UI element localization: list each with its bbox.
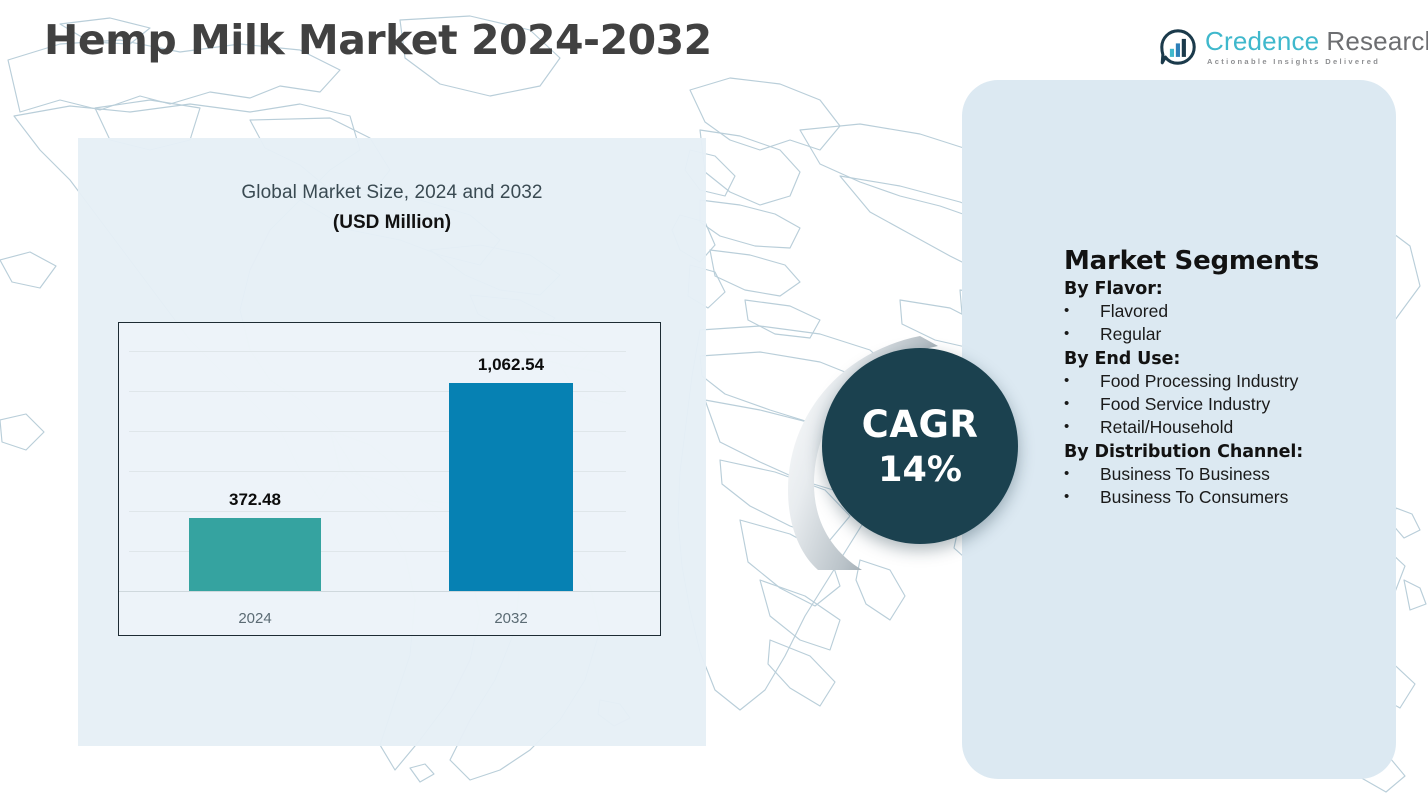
bullet-icon: •	[1064, 417, 1100, 438]
chart-heading: Global Market Size, 2024 and 2032 (USD M…	[118, 182, 666, 234]
brand-word-research: Research	[1326, 28, 1428, 54]
segment-item-label: Food Processing Industry	[1100, 371, 1394, 392]
chart-plot-area: 372.4820241,062.542032	[119, 323, 660, 635]
chart-bar-group: 372.482024	[189, 333, 321, 591]
chart-bar-value-label: 372.48	[123, 490, 387, 510]
bullet-icon: •	[1064, 324, 1100, 345]
market-size-bar-chart: 372.4820241,062.542032	[118, 322, 661, 636]
chart-bar	[189, 518, 321, 591]
segments-title: Market Segments	[1064, 246, 1394, 276]
chart-axis-line	[119, 591, 660, 592]
segment-group: By End Use:•Food Processing Industry•Foo…	[1064, 349, 1394, 439]
page-title: Hemp Milk Market 2024-2032	[44, 16, 712, 64]
chart-heading-line2: (USD Million)	[118, 212, 666, 234]
segment-group-heading: By Distribution Channel:	[1064, 442, 1394, 462]
chart-category-label: 2024	[123, 610, 387, 627]
bullet-icon: •	[1064, 464, 1100, 485]
bullet-icon: •	[1064, 394, 1100, 415]
segment-item-label: Food Service Industry	[1100, 394, 1394, 415]
market-segments-panel: Market Segments By Flavor:•Flavored•Regu…	[1064, 246, 1394, 508]
segment-list-item: •Food Service Industry	[1064, 394, 1394, 415]
segment-list-item: •Food Processing Industry	[1064, 371, 1394, 392]
segment-list-item: •Business To Consumers	[1064, 487, 1394, 508]
bullet-icon: •	[1064, 371, 1100, 392]
brand-word-credence: Credence	[1205, 28, 1319, 54]
segment-list-item: •Retail/Household	[1064, 417, 1394, 438]
segment-item-label: Flavored	[1100, 301, 1394, 322]
segment-group: By Flavor:•Flavored•Regular	[1064, 279, 1394, 346]
brand-tagline: Actionable Insights Delivered	[1207, 58, 1428, 66]
segment-item-label: Regular	[1100, 324, 1394, 345]
chart-category-label: 2032	[387, 610, 635, 627]
segment-group: By Distribution Channel:•Business To Bus…	[1064, 442, 1394, 509]
brand-wordmark: Credence Research Actionable Insights De…	[1205, 28, 1428, 66]
segment-list-item: •Flavored	[1064, 301, 1394, 322]
segment-item-label: Business To Consumers	[1100, 487, 1394, 508]
cagr-badge: CAGR 14%	[822, 348, 1018, 544]
bar-chart-circle-icon	[1160, 29, 1196, 65]
segment-list-item: •Regular	[1064, 324, 1394, 345]
chart-bar	[449, 383, 573, 591]
segment-group-heading: By Flavor:	[1064, 279, 1394, 299]
brand-logo: Credence Research Actionable Insights De…	[1160, 28, 1428, 66]
cagr-label: CAGR	[862, 403, 979, 446]
bullet-icon: •	[1064, 301, 1100, 322]
segment-list-item: •Business To Business	[1064, 464, 1394, 485]
segment-item-label: Business To Business	[1100, 464, 1394, 485]
segment-item-label: Retail/Household	[1100, 417, 1394, 438]
segments-groups: By Flavor:•Flavored•RegularBy End Use:•F…	[1064, 279, 1394, 508]
cagr-value: 14%	[878, 450, 962, 490]
chart-bar-value-label: 1,062.54	[387, 355, 635, 375]
chart-bar-group: 1,062.542032	[449, 333, 573, 591]
bullet-icon: •	[1064, 487, 1100, 508]
chart-heading-line1: Global Market Size, 2024 and 2032	[118, 182, 666, 204]
segment-group-heading: By End Use:	[1064, 349, 1394, 369]
chart-bars: 372.4820241,062.542032	[119, 333, 660, 591]
